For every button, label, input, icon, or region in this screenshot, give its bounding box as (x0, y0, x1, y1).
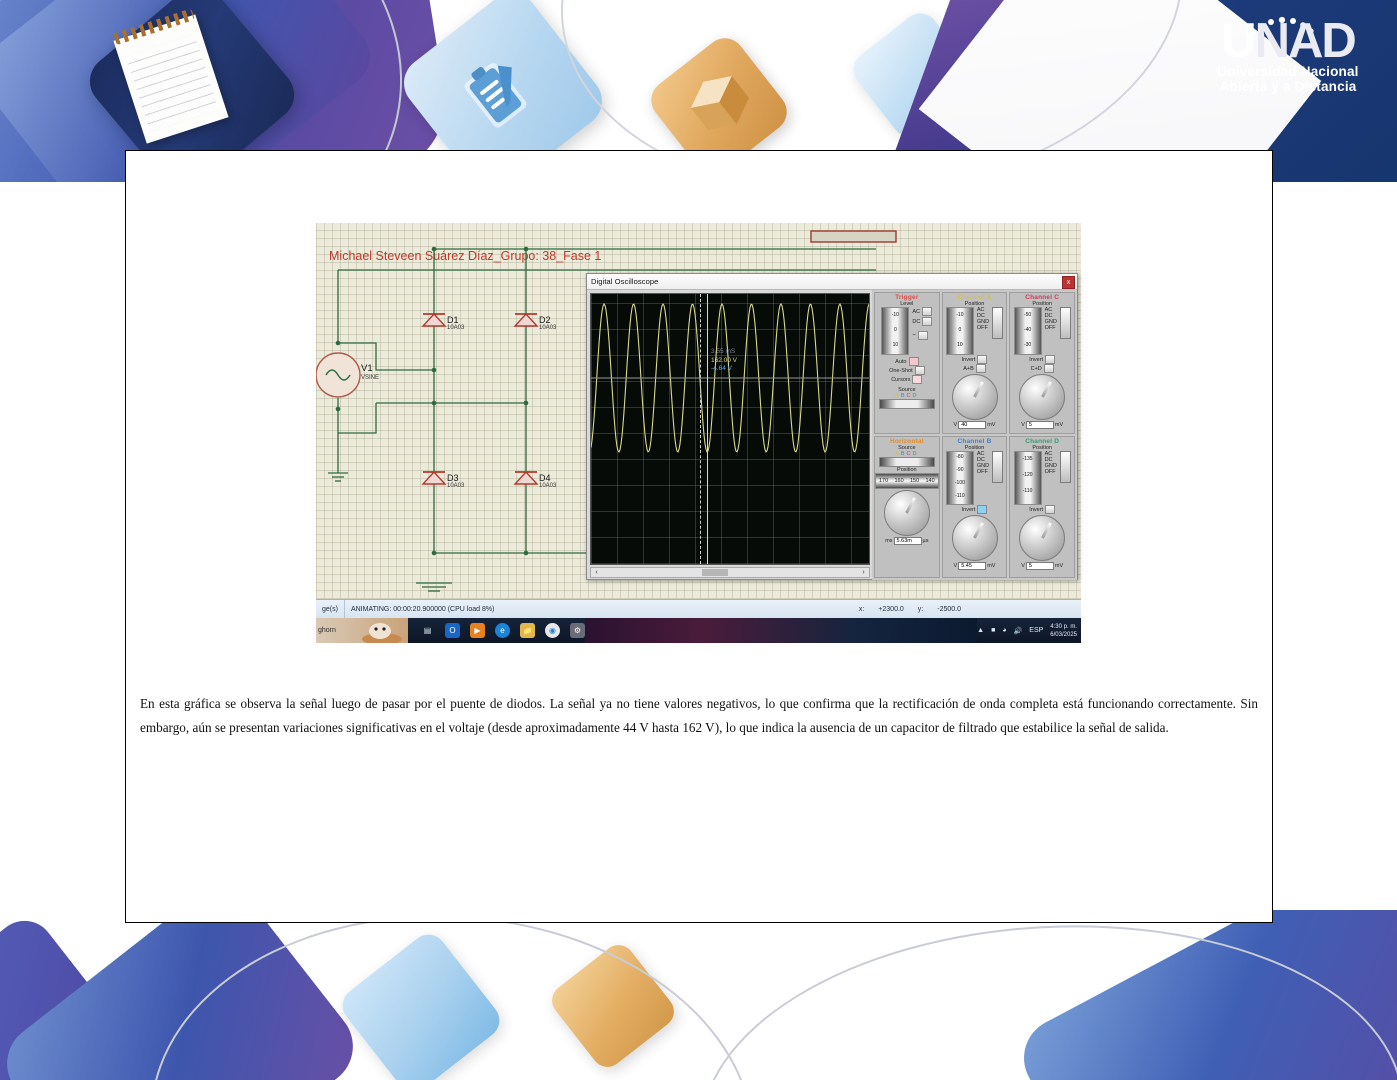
unad-logo-line2: Abierta y a Distancia (1203, 79, 1373, 94)
status-bar: ge(s) ANIMATING: 00:00:20.900000 (CPU lo… (316, 599, 1081, 619)
channel-b-invert-label: Invert (962, 507, 976, 513)
trigger-cursors-label: Cursors (891, 377, 910, 383)
channel-c-value[interactable]: 5 (1026, 421, 1054, 429)
outlook-icon[interactable]: O (445, 623, 460, 638)
channel-c-mark-2: -40 (1015, 327, 1041, 333)
channel-a-off-label[interactable]: OFF (977, 325, 989, 331)
scroll-right-icon[interactable]: › (858, 569, 869, 576)
channel-b-volts-knob[interactable] (952, 515, 998, 561)
footer-blue-square (335, 927, 506, 1080)
channel-c-mark-3: -30 (1015, 342, 1041, 348)
status-y-value: -2500.0 (937, 606, 961, 613)
task-view-icon[interactable]: ▤ (420, 623, 435, 638)
channel-d-value-row: V 5 mV (1021, 562, 1063, 570)
channel-a-unit-low: V (954, 422, 958, 428)
panel-channel-d[interactable]: Channel D Position -135 -120 -110 AC (1009, 436, 1075, 578)
diode-label-d1: D1 (447, 315, 459, 325)
panel-horizontal[interactable]: Horizontal Source ABCD Position 170 160 … (874, 436, 940, 578)
channel-c-position-slider[interactable]: -50 -40 -30 (1014, 307, 1042, 355)
channel-b-mark-3: -100 (947, 480, 973, 486)
panel-title-channel-a: Channel A (958, 294, 992, 301)
taskbar-clock[interactable]: 4:30 p. m. 6/03/2025 (1050, 623, 1077, 639)
channel-c-value-row: V 5 mV (1021, 421, 1063, 429)
waveform-screen[interactable]: 3.55 mS 162.00 V -4.64 V (590, 293, 870, 565)
horizontal-mark-3: 150 (910, 478, 919, 484)
horizontal-source-slider[interactable] (879, 457, 935, 467)
content-frame: Michael Steveen Suárez Díaz_Grupo: 38_Fa… (125, 150, 1273, 923)
diode-label-d4: D4 (539, 473, 551, 483)
channel-b-mark-1: -80 (947, 454, 973, 460)
channel-c-sum-toggle[interactable] (1044, 364, 1054, 373)
diode-part-d1: 10A03 (447, 325, 464, 331)
panel-title-channel-b: Channel B (958, 438, 992, 445)
channel-c-sum-label: C+D (1031, 366, 1042, 372)
channel-c-mark-1: -50 (1015, 312, 1041, 318)
trigger-auto-label: Auto (895, 359, 906, 365)
oscilloscope-body: 3.55 mS 162.00 V -4.64 V ‹ › (587, 290, 1077, 580)
clipboard-pencil-icon (454, 44, 547, 139)
cursor-dashed[interactable] (700, 294, 701, 564)
taskbar-app-thumbnail[interactable]: ghorn (316, 618, 408, 643)
panel-trigger[interactable]: Trigger Level -10 0 10 AC (874, 292, 940, 434)
trigger-mark-1: -10 (882, 312, 908, 318)
channel-d-mark-1: -135 (1015, 456, 1041, 462)
unad-logo-u: U (1221, 14, 1254, 68)
channel-d-mark-3: -110 (1015, 488, 1041, 494)
chrome-icon[interactable]: ◉ (545, 623, 560, 638)
channel-a-mark-2: 0 (947, 327, 973, 333)
scroll-left-icon[interactable]: ‹ (591, 569, 602, 576)
battery-icon[interactable]: ■ (991, 627, 995, 634)
diode-part-d2: 10A03 (539, 325, 556, 331)
channel-d-invert-toggle[interactable] (1045, 505, 1055, 514)
panel-title-channel-c: Channel C (1025, 294, 1059, 301)
waveform-scrollbar[interactable]: ‹ › (590, 567, 870, 578)
panel-title-channel-d: Channel D (1025, 438, 1059, 445)
caption-paragraph: En esta gráfica se observa la señal lueg… (140, 692, 1258, 740)
source-label: V1 (361, 363, 373, 374)
diode-part-d3: 10A03 (447, 483, 464, 489)
channel-b-off-label[interactable]: OFF (977, 469, 989, 475)
channel-d-unit-high: mV (1055, 563, 1063, 569)
horizontal-unit-high: µs (923, 538, 929, 544)
channel-a-invert-toggle[interactable] (977, 355, 987, 364)
control-panel: Trigger Level -10 0 10 AC (872, 290, 1077, 580)
panel-channel-a[interactable]: Channel A Position -10 0 10 AC (942, 292, 1008, 434)
status-y-label: y: (918, 606, 923, 613)
channel-d-off-label[interactable]: OFF (1045, 469, 1057, 475)
readout-time: 3.55 mS (711, 348, 737, 357)
horizontal-value[interactable]: 5.63m (894, 537, 922, 545)
unad-logo-dots-icon (1205, 14, 1371, 64)
wifi-icon[interactable]: ◕ (1002, 627, 1006, 634)
taskbar-icons: ▤ O ▶ e 📁 ◉ ⚙ (408, 623, 585, 638)
unad-logo-mark: UNAD (1203, 18, 1373, 64)
footer-left-shape-2 (0, 910, 184, 1080)
status-coordinates: x: +2300.0 y: -2500.0 (859, 606, 1081, 613)
cursor-readout: 3.55 mS 162.00 V -4.64 V (711, 348, 737, 374)
trigger-mark-3: 10 (882, 342, 908, 348)
edge-icon[interactable]: e (495, 623, 510, 638)
footer-left-shape (0, 910, 369, 1080)
notepad-rings-icon (113, 8, 195, 45)
channel-d-mark-2: -120 (1015, 472, 1041, 478)
trigger-edge-icon: ⌢ (912, 332, 916, 339)
trigger-source-slider[interactable] (879, 399, 935, 409)
horizontal-value-row: ms 5.63m µs (885, 537, 928, 545)
channel-a-sum-label: A+B (963, 366, 974, 372)
channel-a-volts-knob[interactable] (952, 374, 998, 420)
horizontal-mark-1: 170 (879, 478, 888, 484)
scrollbar-thumb[interactable] (702, 569, 728, 576)
file-explorer-icon[interactable]: 📁 (520, 623, 535, 638)
trigger-edge-toggle[interactable] (918, 331, 928, 340)
waveform-area: 3.55 mS 162.00 V -4.64 V ‹ › (587, 290, 872, 580)
channel-c-invert-toggle[interactable] (1045, 355, 1055, 364)
panel-title-horizontal: Horizontal (890, 438, 924, 445)
taskbar-date: 6/03/2025 (1050, 631, 1077, 639)
channel-b-coupling-switch[interactable] (992, 451, 1003, 483)
channel-b-position-slider[interactable]: -80 -90 -100 -110 (946, 451, 974, 505)
channel-b-unit-low: V (954, 563, 958, 569)
status-x-value: +2300.0 (878, 606, 904, 613)
channel-b-invert-toggle[interactable] (977, 505, 987, 514)
diode-label-d2: D2 (539, 315, 551, 325)
horizontal-position-slider[interactable]: 170 160 150 140 (875, 473, 939, 489)
channel-c-coupling-switch[interactable] (1060, 307, 1071, 339)
language-indicator[interactable]: ESP (1029, 627, 1043, 634)
taskbar-time: 4:30 p. m. (1050, 623, 1077, 631)
oscilloscope-window[interactable]: Digital Oscilloscope x 3.55 mS (586, 273, 1078, 580)
trigger-level-slider[interactable]: -10 0 10 (881, 307, 909, 355)
readout-value-a: 162.00 V (711, 357, 737, 366)
cube-icon (677, 60, 762, 146)
volume-icon[interactable]: 🔊 (1014, 627, 1023, 635)
horizontal-mark-4: 140 (926, 478, 935, 484)
trigger-coupling-dc-label: DC (912, 319, 920, 325)
horizontal-unit-low: ms (885, 538, 892, 544)
footer-right-shape (1010, 910, 1397, 1080)
horizontal-timebase-knob[interactable] (884, 490, 930, 536)
channel-d-position-slider[interactable]: -135 -120 -110 (1014, 451, 1042, 505)
footer-orange-square (546, 939, 681, 1074)
channel-a-value-row: V 40 mV (954, 421, 996, 429)
trigger-coupling-dc-toggle[interactable] (922, 317, 932, 326)
panel-title-trigger: Trigger (895, 294, 918, 301)
panel-channel-b[interactable]: Channel B Position -80 -90 -100 -110 (942, 436, 1008, 578)
panel-channel-c[interactable]: Channel C Position -50 -40 -30 AC (1009, 292, 1075, 434)
diode-label-d3: D3 (447, 473, 459, 483)
channel-c-unit-high: mV (1055, 422, 1063, 428)
channel-a-mark-1: -10 (947, 312, 973, 318)
channel-a-invert-label: Invert (962, 357, 976, 363)
channel-d-unit-low: V (1021, 563, 1025, 569)
channel-d-value[interactable]: 5 (1026, 562, 1054, 570)
app-icon[interactable]: ⚙ (570, 623, 585, 638)
notepad-icon (113, 14, 228, 143)
small-blue-square-shape (846, 6, 984, 144)
unad-logo: UNAD Universidad Nacional Abierta y a Di… (1203, 18, 1373, 94)
channel-d-invert-label: Invert (1029, 507, 1043, 513)
status-animating: ANIMATING: 00:00:20.900000 (CPU load 8%) (345, 600, 500, 619)
cursor-solid[interactable] (707, 294, 708, 564)
waveform-trace (591, 294, 870, 565)
footer-swoosh-1 (136, 910, 768, 1080)
channel-a-unit-high: mV (987, 422, 995, 428)
taskbar-background (585, 618, 977, 643)
channel-c-off-label[interactable]: OFF (1045, 325, 1057, 331)
system-tray: ▲ ■ ◕ 🔊 ESP 4:30 p. m. 6/03/2025 (977, 623, 1081, 639)
status-left-segment: ge(s) (316, 600, 345, 619)
channel-b-mark-4: -110 (947, 493, 973, 499)
trigger-auto-button[interactable] (909, 357, 919, 366)
media-player-icon[interactable]: ▶ (470, 623, 485, 638)
trigger-coupling-ac-toggle[interactable] (922, 307, 932, 316)
chevron-up-icon[interactable]: ▲ (977, 627, 984, 634)
status-x-label: x: (859, 606, 864, 613)
readout-value-b: -4.64 V (711, 365, 737, 374)
channel-a-position-slider[interactable]: -10 0 10 (946, 307, 974, 355)
channel-a-value[interactable]: 40 (958, 421, 986, 429)
control-row-top: Trigger Level -10 0 10 AC (874, 292, 1075, 434)
footer-right-shape-2 (1212, 910, 1397, 1080)
control-row-bottom: Horizontal Source ABCD Position 170 160 … (874, 436, 1075, 578)
unad-logo-line1: Universidad Nacional (1203, 64, 1373, 79)
cartoon-icon (358, 619, 406, 643)
trigger-cursors-button[interactable] (912, 375, 922, 384)
channel-d-volts-knob[interactable] (1019, 515, 1065, 561)
trigger-oneshot-button[interactable] (915, 366, 925, 375)
notepad-lines-icon (126, 34, 219, 132)
channel-b-mark-2: -90 (947, 467, 973, 473)
channel-c-invert-label: Invert (1029, 357, 1043, 363)
oscilloscope-title: Digital Oscilloscope (587, 277, 658, 286)
channel-a-sum-toggle[interactable] (976, 364, 986, 373)
channel-c-volts-knob[interactable] (1019, 374, 1065, 420)
windows-taskbar: ghorn ▤ O ▶ e 📁 ◉ ⚙ ▲ ■ ◕ (316, 618, 1081, 643)
trigger-oneshot-label: One-Shot (889, 368, 913, 374)
trigger-mark-2: 0 (882, 327, 908, 333)
horizontal-mark-2: 160 (895, 478, 904, 484)
channel-b-unit-high: mV (987, 563, 995, 569)
unad-logo-nad: NAD (1255, 14, 1355, 68)
channel-b-value-row: V 5.45 mV (954, 562, 996, 570)
taskbar-app-label: ghorn (318, 627, 336, 634)
footer-swoosh-2 (690, 910, 1397, 1080)
channel-a-coupling-switch[interactable] (992, 307, 1003, 339)
close-icon[interactable]: x (1062, 276, 1075, 289)
embedded-screenshot: Michael Steveen Suárez Díaz_Grupo: 38_Fa… (316, 223, 1081, 643)
channel-c-unit-low: V (1021, 422, 1025, 428)
source-type-label: VSINE (361, 375, 379, 381)
channel-d-coupling-switch[interactable] (1060, 451, 1071, 483)
channel-a-mark-3: 10 (947, 342, 973, 348)
footer-band (0, 910, 1397, 1080)
diode-part-d4: 10A03 (539, 483, 556, 489)
channel-b-value[interactable]: 5.45 (958, 562, 986, 570)
oscilloscope-titlebar[interactable]: Digital Oscilloscope x (587, 274, 1077, 290)
trigger-coupling-ac-label: AC (912, 309, 920, 315)
